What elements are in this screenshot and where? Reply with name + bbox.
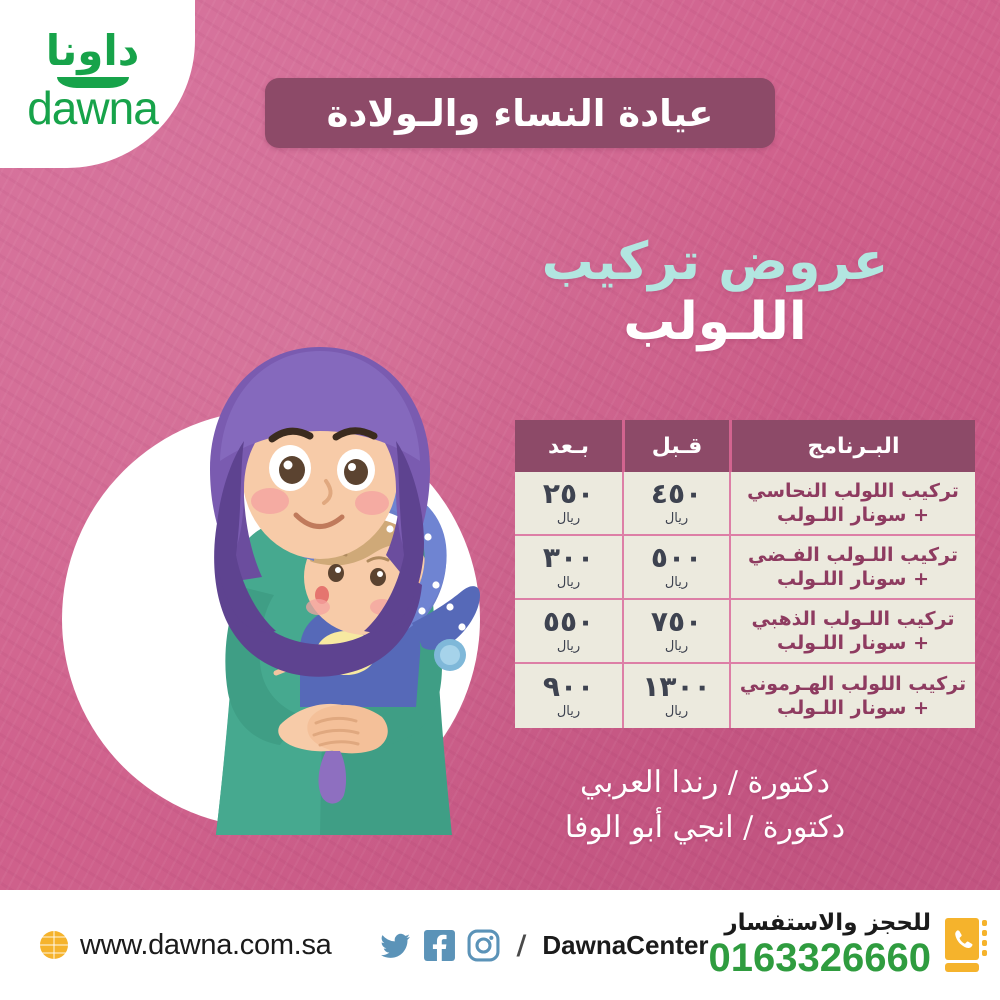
footer-bar: www.dawna.com.sa / DawnaCenter للحجز وال…: [0, 890, 1000, 1000]
price-after-value: ٣٠٠: [543, 544, 594, 572]
column-header-after: بـعد: [515, 420, 622, 472]
facebook-icon[interactable]: [423, 929, 456, 962]
price-before-value: ١٣٠٠: [642, 673, 710, 701]
social-links-group[interactable]: / DawnaCenter: [379, 929, 708, 962]
table-row: تركيب اللولب النحاسي + سونار اللـولب ٤٥٠…: [515, 472, 975, 536]
price-before-value: ٧٥٠: [651, 608, 702, 636]
booking-label: للحجز والاستفسار: [709, 911, 931, 936]
program-line-1: تركيب اللولب الهـرموني: [732, 672, 974, 696]
header-badge-label: عيادة النساء والـولادة: [327, 92, 714, 135]
poster-canvas: داونا dawna عيادة النساء والـولادة عروض …: [0, 0, 1000, 1000]
phone-book-icon: [945, 918, 991, 972]
website-group[interactable]: www.dawna.com.sa: [40, 929, 331, 962]
page-title: عروض تركيب اللـولب: [490, 232, 940, 353]
table-header: البـرنامج قـبل بـعد: [515, 420, 975, 472]
price-before-value: ٥٠٠: [651, 544, 702, 572]
table-row: تركيب اللولب الهـرموني + سونار اللـولب ١…: [515, 664, 975, 728]
cell-price-after: ٣٠٠ ريال: [515, 536, 622, 600]
instagram-icon[interactable]: [467, 929, 500, 962]
currency-label: ريال: [665, 511, 688, 526]
column-header-before: قـبل: [622, 420, 729, 472]
table-header-row: البـرنامج قـبل بـعد: [515, 420, 975, 472]
cell-price-before: ٤٥٠ ريال: [622, 472, 729, 536]
price-after-value: ٩٠٠: [543, 673, 594, 701]
table-body: تركيب اللولب النحاسي + سونار اللـولب ٤٥٠…: [515, 472, 975, 728]
currency-label: ريال: [665, 575, 688, 590]
cell-program: تركيب اللولب الهـرموني + سونار اللـولب: [729, 664, 975, 728]
price-after-value: ٥٥٠: [543, 608, 594, 636]
program-line-1: تركيب اللولب النحاسي: [739, 479, 967, 503]
currency-label: ريال: [665, 704, 688, 719]
program-line-2: + سونار اللـولب: [769, 696, 937, 720]
table-row: تركيب اللـولب الذهبي + سونار اللـولب ٧٥٠…: [515, 600, 975, 664]
separator-slash: /: [516, 930, 526, 961]
booking-text: للحجز والاستفسار 0163326660: [709, 911, 931, 978]
currency-label: ريال: [557, 704, 580, 719]
mother-and-baby-illustration: [150, 255, 490, 835]
cell-program: تركيب اللولب النحاسي + سونار اللـولب: [729, 472, 975, 536]
doctors-list: دكتورة / رندا العربي دكتورة / انجي أبو ا…: [465, 760, 945, 850]
program-line-1: تركيب اللـولب الفـضي: [740, 543, 966, 567]
price-before-value: ٤٥٠: [651, 480, 702, 508]
phone-number[interactable]: 0163326660: [709, 937, 931, 979]
cell-price-after: ٢٥٠ ريال: [515, 472, 622, 536]
logo-latin-text: dawna: [27, 84, 158, 132]
website-url[interactable]: www.dawna.com.sa: [80, 929, 331, 962]
cell-price-before: ١٣٠٠ ريال: [622, 664, 729, 728]
cell-price-after: ٩٠٠ ريال: [515, 664, 622, 728]
booking-group[interactable]: للحجز والاستفسار 0163326660: [709, 911, 991, 978]
doctor-name-1: دكتورة / رندا العربي: [465, 760, 945, 805]
currency-label: ريال: [557, 511, 580, 526]
logo-arabic-text: داونا: [46, 30, 140, 72]
currency-label: ريال: [557, 575, 580, 590]
twitter-icon[interactable]: [379, 929, 412, 962]
cell-program: تركيب اللـولب الذهبي + سونار اللـولب: [729, 600, 975, 664]
title-line-2: اللـولب: [490, 292, 940, 352]
cell-price-before: ٥٠٠ ريال: [622, 536, 729, 600]
brand-logo[interactable]: داونا dawna: [0, 0, 195, 168]
doctor-name-2: دكتورة / انجي أبو الوفا: [465, 805, 945, 850]
currency-label: ريال: [665, 639, 688, 654]
cell-price-after: ٥٥٠ ريال: [515, 600, 622, 664]
program-line-2: + سونار اللـولب: [769, 503, 937, 527]
social-handle[interactable]: DawnaCenter: [542, 930, 708, 961]
program-line-1: تركيب اللـولب الذهبي: [744, 607, 963, 631]
table-row: تركيب اللـولب الفـضي + سونار اللـولب ٥٠٠…: [515, 536, 975, 600]
price-table: البـرنامج قـبل بـعد تركيب اللولب النحاسي…: [515, 420, 975, 728]
globe-icon: [40, 931, 68, 959]
currency-label: ريال: [557, 639, 580, 654]
title-line-1: عروض تركيب: [490, 232, 940, 292]
column-header-program: البـرنامج: [729, 420, 975, 472]
cell-program: تركيب اللـولب الفـضي + سونار اللـولب: [729, 536, 975, 600]
price-after-value: ٢٥٠: [543, 480, 594, 508]
program-line-2: + سونار اللـولب: [769, 567, 937, 591]
program-line-2: + سونار اللـولب: [769, 631, 937, 655]
cell-price-before: ٧٥٠ ريال: [622, 600, 729, 664]
header-badge: عيادة النساء والـولادة: [265, 78, 775, 148]
